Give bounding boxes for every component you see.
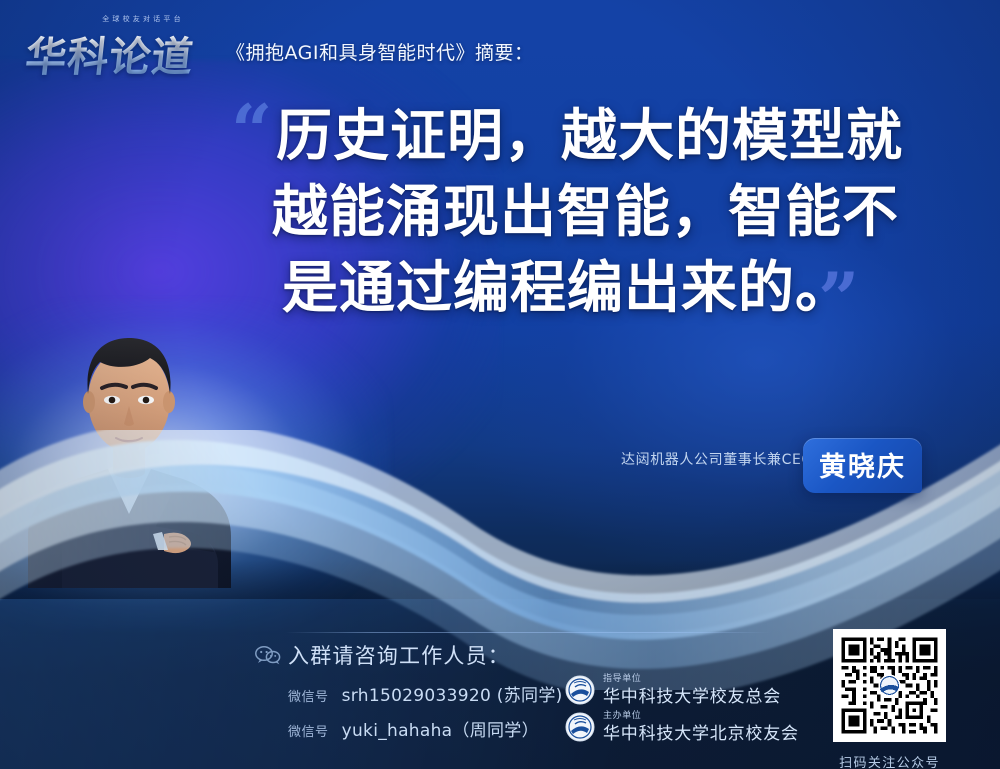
- quote-close-mark: ”: [818, 263, 859, 335]
- qr-code-image[interactable]: [833, 629, 946, 742]
- qr-caption: 扫码关注公众号: [833, 752, 946, 769]
- quote-open-mark: “: [231, 95, 272, 167]
- contact-label-1: 微信号: [288, 690, 329, 705]
- footer-divider: [285, 632, 770, 633]
- poster-canvas: 全球校友对话平台 华科论道 《拥抱AGI和具身智能时代》摘要： “ 历史证明，越…: [0, 0, 1000, 769]
- hust-beijing-emblem-icon: [565, 712, 595, 742]
- organization-name-2: 华中科技大学北京校友会: [603, 719, 799, 744]
- brand-name: 华科论道: [23, 23, 197, 83]
- wechat-icon: [255, 645, 281, 665]
- header-subtitle: 《拥抱AGI和具身智能时代》摘要：: [226, 38, 534, 65]
- contact-value-1[interactable]: srh15029033920 (苏同学): [342, 686, 563, 706]
- poster-header: 全球校友对话平台 华科论道 《拥抱AGI和具身智能时代》摘要：: [0, 0, 1000, 90]
- contact-row-1: 微信号 srh15029033920 (苏同学): [288, 681, 563, 706]
- contact-value-2[interactable]: yuki_hahaha（周同学）: [342, 721, 539, 741]
- footer-title: 入群请咨询工作人员：: [288, 640, 510, 670]
- organization-name-1: 华中科技大学校友总会: [603, 682, 781, 707]
- speaker-title: 达闼机器人公司董事长兼CEO: [621, 449, 813, 469]
- speaker-name-badge: 黄晓庆: [803, 438, 922, 493]
- qr-code-block[interactable]: 扫码关注公众号: [833, 629, 946, 769]
- quote-line-1: 历史证明，越大的模型就: [276, 99, 946, 175]
- brand-logo: 全球校友对话平台 华科论道: [26, 14, 216, 70]
- quote-line-2: 越能涌现出智能，智能不: [272, 175, 946, 251]
- hust-emblem-icon: [565, 675, 595, 705]
- contact-row-2: 微信号 yuki_hahaha（周同学）: [288, 716, 539, 741]
- contact-label-2: 微信号: [288, 725, 329, 740]
